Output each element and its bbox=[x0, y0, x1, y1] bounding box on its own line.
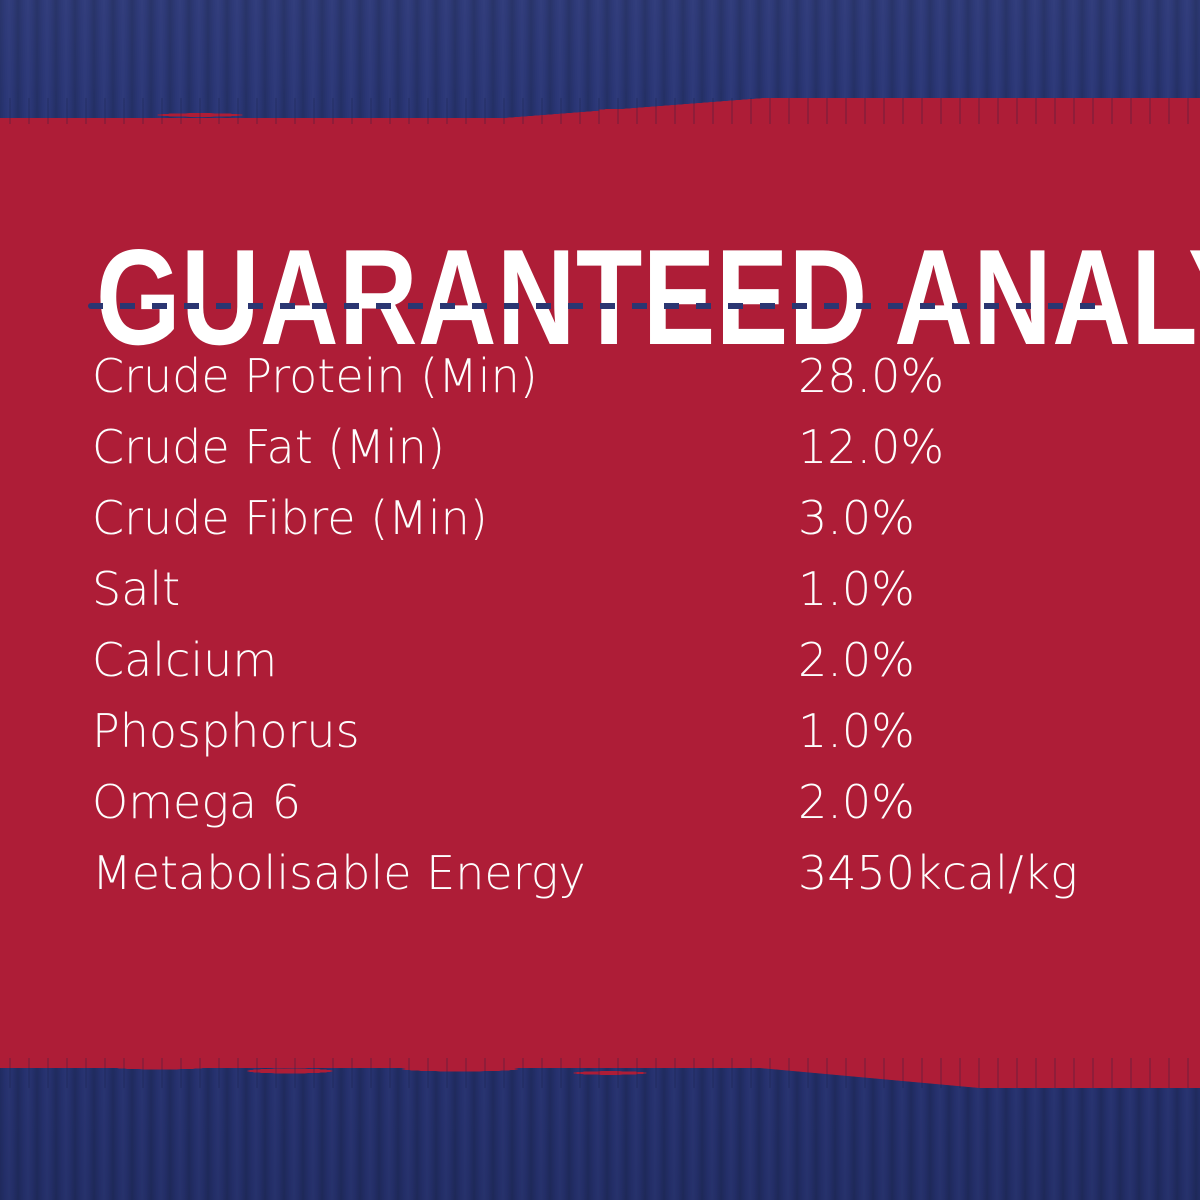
nutrient-value: 2.0% bbox=[798, 774, 915, 830]
table-row: Calcium2.0% bbox=[0, 632, 1200, 703]
nutrient-value: 2.0% bbox=[798, 632, 915, 688]
nutrient-value: 3450kcal/kg bbox=[798, 845, 1078, 901]
nutrient-label: Crude Protein (Min) bbox=[92, 348, 538, 404]
table-row: Crude Protein (Min)28.0% bbox=[0, 348, 1200, 419]
guaranteed-analysis-panel: GUARANTEED ANALYSIS Crude Protein (Min)2… bbox=[0, 0, 1200, 1200]
table-row: Omega 62.0% bbox=[0, 774, 1200, 845]
page-title: GUARANTEED ANALYSIS bbox=[96, 245, 1200, 349]
nutrient-value: 1.0% bbox=[798, 703, 915, 759]
nutrient-label: Salt bbox=[92, 561, 180, 617]
table-row: Phosphorus1.0% bbox=[0, 703, 1200, 774]
table-row: Salt1.0% bbox=[0, 561, 1200, 632]
nutrient-label: Omega 6 bbox=[92, 774, 301, 830]
nutrient-value: 28.0% bbox=[798, 348, 944, 404]
nutrient-value: 3.0% bbox=[798, 490, 915, 546]
nutrient-label: Crude Fibre (Min) bbox=[92, 490, 488, 546]
nutrient-value: 12.0% bbox=[798, 419, 944, 475]
nutrition-table: Crude Protein (Min)28.0%Crude Fat (Min)1… bbox=[0, 348, 1200, 916]
nutrient-label: Phosphorus bbox=[92, 703, 360, 759]
table-row: Crude Fibre (Min)3.0% bbox=[0, 490, 1200, 561]
nutrient-label: Metabolisable Energy bbox=[92, 845, 586, 901]
table-row: Crude Fat (Min)12.0% bbox=[0, 419, 1200, 490]
nutrient-label: Crude Fat (Min) bbox=[92, 419, 445, 475]
dashed-divider bbox=[88, 303, 1101, 309]
nutrient-value: 1.0% bbox=[798, 561, 915, 617]
table-row: Metabolisable Energy3450kcal/kg bbox=[0, 845, 1200, 916]
nutrient-label: Calcium bbox=[92, 632, 277, 688]
